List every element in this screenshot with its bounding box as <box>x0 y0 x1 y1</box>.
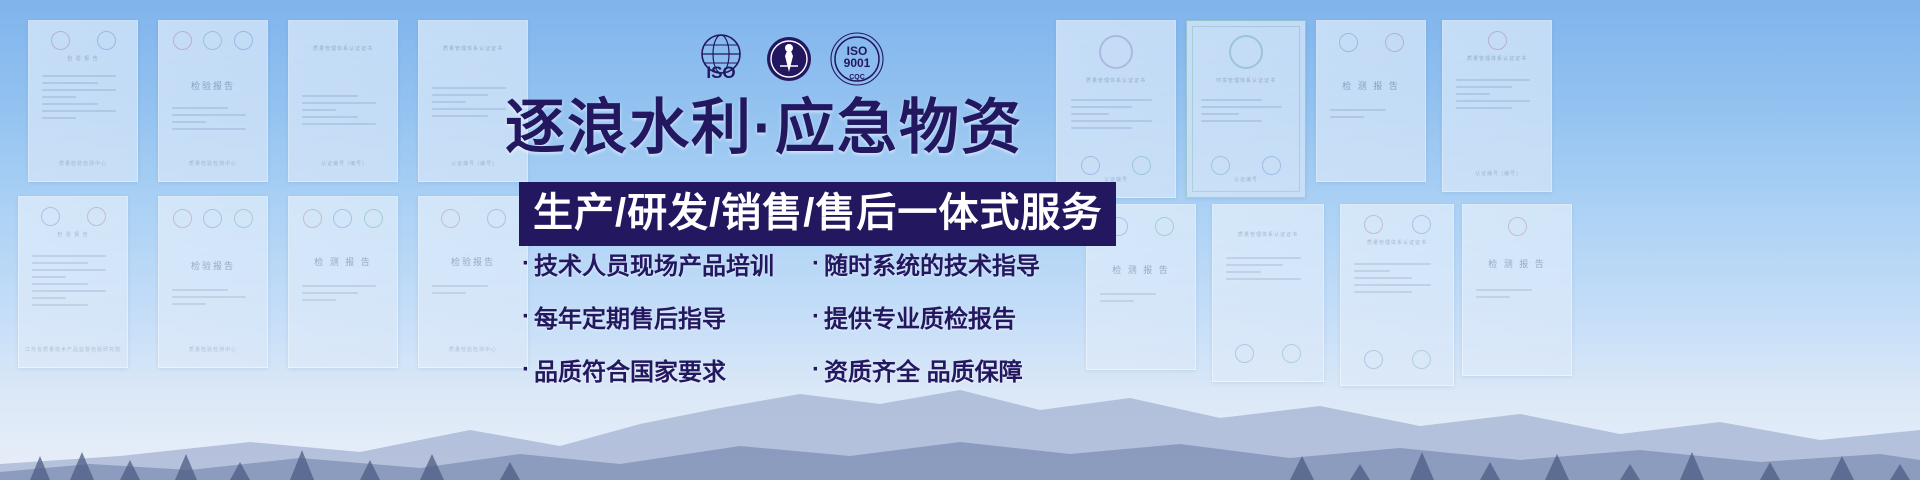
certificate-inspection-report-3: 检 验 报 告 江苏省质量技术产品监督检验研究院 <box>18 196 128 368</box>
certificate-quality-cert-1: 质量管理体系认证证书 认证编号 (编号) <box>288 20 398 182</box>
certificate-side-1: 质量管理体系认证证书 认证编号 (编号) <box>1442 20 1552 192</box>
certificate-foot: 认证编号 (编号) <box>419 160 527 167</box>
certificate-head: 质量管理体系认证证书 <box>1443 55 1551 62</box>
certificate-test-report-1: 检 测 报 告 <box>288 196 398 368</box>
svg-text:ISO: ISO <box>706 63 735 82</box>
certificate-side-4: 检 测 报 告 <box>1462 204 1572 376</box>
certificate-environment: 环境管理体系认证证书 认证编号 <box>1186 20 1306 198</box>
certificate-foot: 质量检验检测中心 <box>419 346 527 353</box>
certificate-foot: 质量检验检测中心 <box>159 346 267 353</box>
certificate-seal <box>1099 35 1133 69</box>
certificate-title: 检 测 报 告 <box>289 255 397 268</box>
certificate-test-report-3: 检 测 报 告 <box>1316 20 1426 182</box>
feature-label: 提供专业质检报告 <box>824 299 1016 334</box>
certificate-head: 质量管理体系认证证书 <box>1057 77 1175 84</box>
certificate-title: 检验报告 <box>159 259 267 272</box>
iso9001-cqc-seal: ISO 9001 CQC <box>826 28 888 90</box>
promotional-banner: 检 验 报 告 质量检验检测中心 检验报告 质量检验检测中心 质量管理体系认证证… <box>0 0 1920 480</box>
feature-label: 每年定期售后指导 <box>534 299 726 334</box>
certificate-title: 检 测 报 告 <box>1087 263 1195 276</box>
certificate-foot: 江苏省质量技术产品监督检验研究院 <box>19 346 127 353</box>
certificate-inspection-report-2: 检验报告 质量检验检测中心 <box>158 20 268 182</box>
bullet-icon: · <box>812 252 820 276</box>
certificate-title: 检 测 报 告 <box>1463 257 1571 270</box>
banner-headline: 逐浪水利·应急物资 <box>505 98 1085 158</box>
certificate-title: 检验报告 <box>419 255 527 268</box>
certificate-head: 质量管理体系认证证书 <box>289 45 397 52</box>
feature-item: · 技术人员现场产品培训 <box>522 246 812 281</box>
certification-seals: ISO ISO 9001 CQC <box>690 28 890 90</box>
bullet-icon: · <box>812 305 820 329</box>
iso-seal: ISO <box>690 28 752 90</box>
feature-item: · 每年定期售后指导 <box>522 299 812 334</box>
feature-item: · 随时系统的技术指导 <box>812 246 1040 281</box>
certificate-head: 质量管理体系认证证书 <box>419 45 527 52</box>
svg-text:9001: 9001 <box>844 56 871 70</box>
certificate-foot: 认证编号 (编号) <box>1443 170 1551 177</box>
quality-seal <box>758 28 820 90</box>
feature-row: · 每年定期售后指导 · 提供专业质检报告 <box>522 299 1082 334</box>
certificate-head: 环境管理体系认证证书 <box>1187 77 1305 84</box>
feature-row: · 技术人员现场产品培训 · 随时系统的技术指导 <box>522 246 1082 281</box>
certificate-title: 检 测 报 告 <box>1317 79 1425 92</box>
certificate-inspection-report-4: 检验报告 质量检验检测中心 <box>158 196 268 368</box>
certificate-foot: 认证编号 (编号) <box>289 160 397 167</box>
certificate-test-report-2: 检验报告 质量检验检测中心 <box>418 196 528 368</box>
feature-label: 随时系统的技术指导 <box>824 246 1040 281</box>
certificate-head: 质量管理体系认证证书 <box>1341 239 1453 246</box>
certificate-seal <box>1229 35 1263 69</box>
certificate-head: 检 验 报 告 <box>29 55 137 62</box>
certificate-head: 检 验 报 告 <box>19 231 127 238</box>
certificate-side-3: 质量管理体系认证证书 <box>1340 204 1454 386</box>
landscape-silhouette <box>0 360 1920 480</box>
certificate-inspection-report-1: 检 验 报 告 质量检验检测中心 <box>28 20 138 182</box>
certificate-foot: 认证编号 <box>1187 176 1305 183</box>
feature-item: · 提供专业质检报告 <box>812 299 1016 334</box>
bullet-icon: · <box>522 252 530 276</box>
certificate-foot: 质量检验检测中心 <box>159 160 267 167</box>
certificate-foot: 质量检验检测中心 <box>29 160 137 167</box>
banner-subtitle-bar: 生产/研发/销售/售后一体式服务 <box>519 182 1116 246</box>
certificate-title: 检验报告 <box>159 79 267 92</box>
bullet-icon: · <box>522 305 530 329</box>
feature-label: 技术人员现场产品培训 <box>534 246 774 281</box>
svg-text:CQC: CQC <box>849 74 865 81</box>
certificate-head: 质量管理体系认证证书 <box>1213 231 1323 238</box>
certificate-side-2: 质量管理体系认证证书 <box>1212 204 1324 382</box>
